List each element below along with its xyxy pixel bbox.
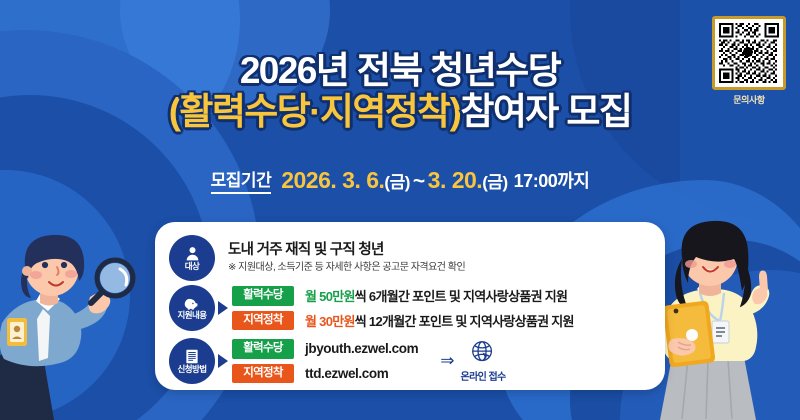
title-close-paren: ) xyxy=(450,91,461,132)
target-note-text: ※ 지원대상, 소득기준 등 자세한 사항은 공고문 자격요건 확인 xyxy=(228,262,465,275)
person-icon xyxy=(184,246,201,261)
apply-item: 지역정착 ttd.ezwel.com xyxy=(232,364,418,383)
target-circle-badge: 대상 xyxy=(169,235,215,281)
info-row-apply: 신청방법 활력수당 jbyouth.ezwel.com 지역정착 ttd.ezw… xyxy=(169,334,651,388)
online-application-block: ⇒ 온라인 접수 xyxy=(440,339,505,383)
period-end-date: 3. 20. xyxy=(428,167,483,193)
apply-items: 활력수당 jbyouth.ezwel.com 지역정착 ttd.ezwel.co… xyxy=(232,339,418,382)
info-row-target: 대상 도내 거주 재직 및 구직 청년 ※ 지원대상, 소득기준 등 자세한 사… xyxy=(169,234,651,282)
info-card: 대상 도내 거주 재직 및 구직 청년 ※ 지원대상, 소득기준 등 자세한 사… xyxy=(155,222,665,390)
support-item: 활력수당 월 50만원씩 6개월간 포인트 및 지역사랑상품권 지원 xyxy=(232,286,574,305)
support-circle-label: 지원내용 xyxy=(178,311,207,320)
title-open-paren: ( xyxy=(169,91,180,132)
period-label: 모집기간 xyxy=(211,166,272,194)
tag-local-settlement: 지역정착 xyxy=(232,311,294,330)
qr-code-icon[interactable] xyxy=(712,16,786,90)
tag-local-settlement: 지역정착 xyxy=(232,364,294,383)
support-circle-badge: 지원내용 xyxy=(169,285,215,331)
title-line-2: (활력수당·지역정착)참여자 모집 xyxy=(0,91,800,132)
title-recruit-text: 참여자 모집 xyxy=(460,91,631,132)
online-inner: 온라인 접수 xyxy=(460,339,505,383)
online-application-caption: 온라인 접수 xyxy=(460,368,505,383)
support-amount: 월 50만원 xyxy=(305,289,355,304)
person-with-magnifier-illustration xyxy=(0,205,169,420)
support-amount: 월 30만원 xyxy=(305,314,355,329)
arrow-right-icon xyxy=(218,354,228,368)
period-end-dow: (금) xyxy=(482,173,507,192)
arrow-right-icon xyxy=(218,301,228,315)
target-main-text: 도내 거주 재직 및 구직 청년 xyxy=(228,241,465,259)
support-item-text: 월 50만원씩 6개월간 포인트 및 지역사랑상품권 지원 xyxy=(305,286,567,305)
document-icon xyxy=(185,349,199,364)
support-item: 지역정착 월 30만원씩 12개월간 포인트 및 지역사랑상품권 지원 xyxy=(232,311,574,330)
poster-root: 문의사항 2026년 전북 청년수당 (활력수당·지역정착)참여자 모집 모집기… xyxy=(0,0,800,420)
apply-circle-badge: 신청방법 xyxy=(169,338,215,384)
info-row-support: 지원내용 활력수당 월 50만원씩 6개월간 포인트 및 지역사랑상품권 지원 … xyxy=(169,282,651,334)
support-items: 활력수당 월 50만원씩 6개월간 포인트 및 지역사랑상품권 지원 지역정착 … xyxy=(232,286,574,329)
period-dates: 2026. 3. 6.(금)~3. 20.(금) xyxy=(281,167,507,194)
title-line-1: 2026년 전북 청년수당 xyxy=(0,50,800,91)
tag-vitality-allowance: 활력수당 xyxy=(232,339,294,358)
double-arrow-icon: ⇒ xyxy=(440,351,454,371)
tag-vitality-allowance: 활력수당 xyxy=(232,286,294,305)
support-detail: 씩 6개월간 포인트 및 지역사랑상품권 지원 xyxy=(355,289,568,304)
qr-code-label: 문의사항 xyxy=(712,93,786,106)
period-tilde: ~ xyxy=(413,170,425,193)
period-start-dow: (금) xyxy=(384,173,409,192)
target-circle-label: 대상 xyxy=(185,262,199,271)
period-start-date: 2026. 3. 6. xyxy=(281,167,384,193)
apply-item: 활력수당 jbyouth.ezwel.com xyxy=(232,339,418,358)
recruitment-period: 모집기간2026. 3. 6.(금)~3. 20.(금)17:00까지 xyxy=(0,166,800,194)
globe-cursor-icon xyxy=(469,339,497,367)
period-deadline-time: 17:00까지 xyxy=(514,167,590,193)
title-line-1-text: 2026년 전북 청년수당 xyxy=(240,50,560,91)
support-item-text: 월 30만원씩 12개월간 포인트 및 지역사랑상품권 지원 xyxy=(305,311,574,330)
apply-url-vitality[interactable]: jbyouth.ezwel.com xyxy=(305,341,418,356)
apply-url-settlement[interactable]: ttd.ezwel.com xyxy=(305,366,388,381)
qr-code-block[interactable]: 문의사항 xyxy=(712,16,786,106)
page-title: 2026년 전북 청년수당 (활력수당·지역정착)참여자 모집 xyxy=(0,50,800,133)
support-detail: 씩 12개월간 포인트 및 지역사랑상품권 지원 xyxy=(355,314,574,329)
piggy-bank-icon xyxy=(184,297,200,310)
title-programs-text: 활력수당·지역정착 xyxy=(179,91,449,132)
target-text-block: 도내 거주 재직 및 구직 청년 ※ 지원대상, 소득기준 등 자세한 사항은 … xyxy=(228,241,465,275)
apply-circle-label: 신청방법 xyxy=(178,365,207,374)
